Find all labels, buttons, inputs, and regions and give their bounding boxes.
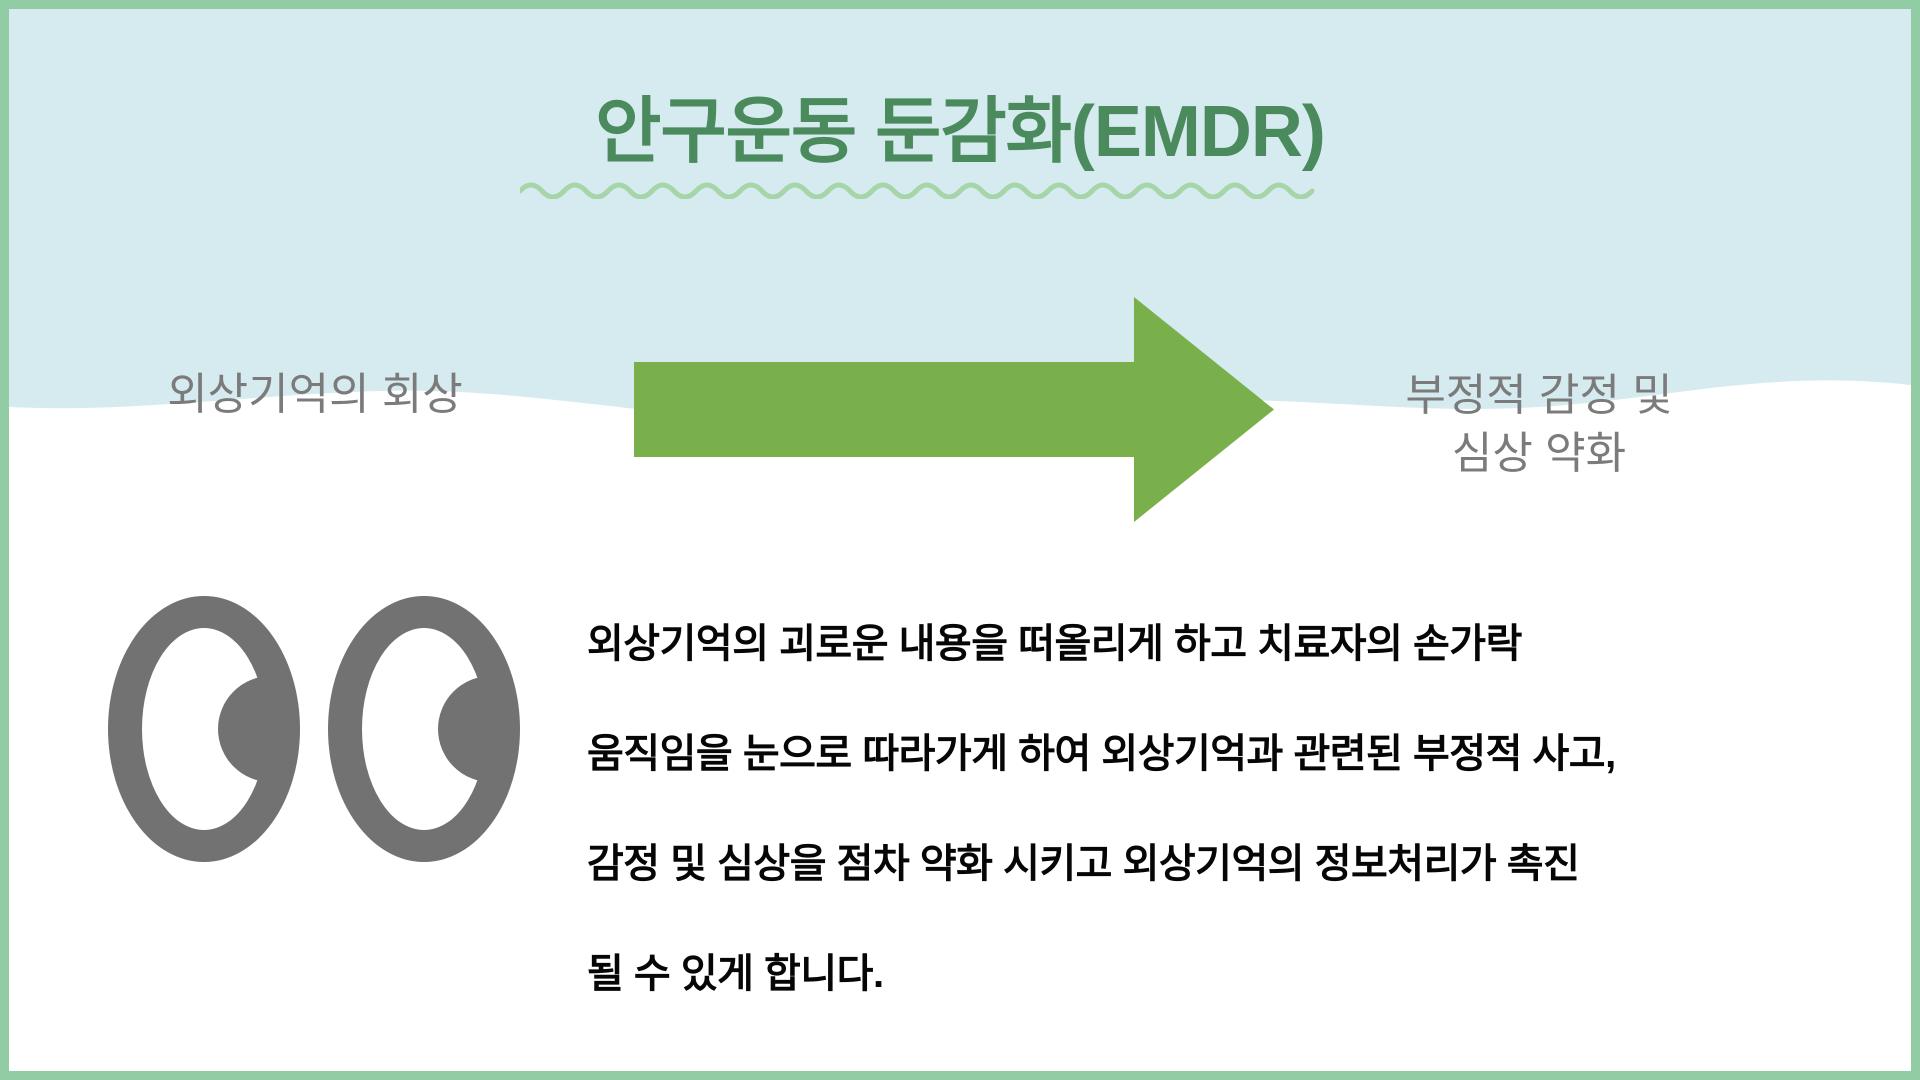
flow-right-label-line-1: 부정적 감정 및 — [1339, 367, 1739, 425]
body-line: 감정 및 심상을 점차 약화 시키고 외상기억의 정보처리가 촉진 — [587, 809, 1857, 919]
body-line: 될 수 있게 합니다. — [587, 919, 1857, 1029]
slide-canvas: 안구운동 둔감화(EMDR) 외상기억의 회상 부정적 감정 및 심상 약화 — [9, 9, 1911, 1071]
body-line: 움직임을 눈으로 따라가게 하여 외상기억과 관련된 부정적 사고, — [587, 699, 1857, 809]
slide-frame: 안구운동 둔감화(EMDR) 외상기억의 회상 부정적 감정 및 심상 약화 — [0, 0, 1920, 1080]
body-line: 외상기억의 괴로운 내용을 떠올리게 하고 치료자의 손가락 — [587, 589, 1857, 699]
title-block: 안구운동 둔감화(EMDR) — [9, 95, 1911, 199]
arrow-right-icon — [634, 297, 1274, 522]
title-wavy-underline — [520, 177, 1400, 199]
flow-left-label: 외상기억의 회상 — [105, 367, 525, 422]
body-paragraph: 외상기억의 괴로운 내용을 떠올리게 하고 치료자의 손가락 움직임을 눈으로 … — [587, 589, 1857, 1029]
flow-right-label: 부정적 감정 및 심상 약화 — [1339, 367, 1739, 483]
flow-right-label-line-2: 심상 약화 — [1339, 425, 1739, 483]
page-title: 안구운동 둔감화(EMDR) — [595, 95, 1325, 171]
eyes-icon — [104, 589, 534, 869]
